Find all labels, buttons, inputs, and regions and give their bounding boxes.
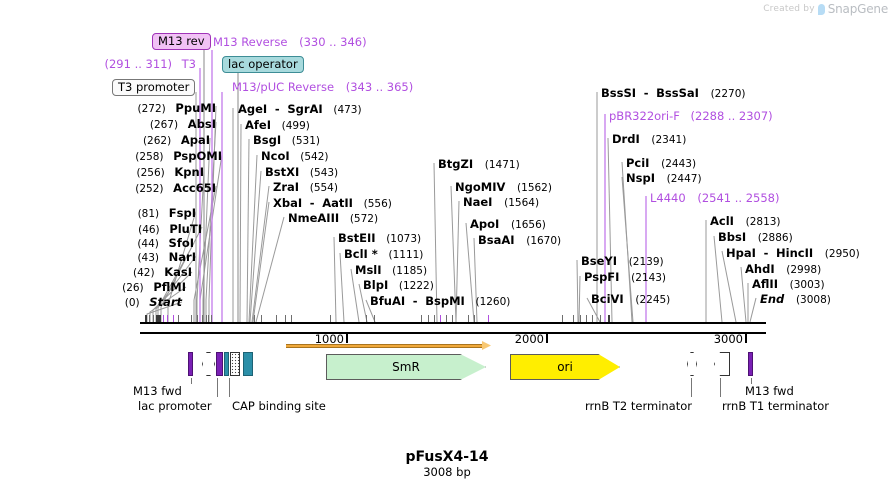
primer-arrow-head: [482, 341, 491, 350]
enzyme-pos-agei-sgrai: (473): [333, 104, 361, 116]
feature-lac-operator-site[interactable]: [224, 352, 229, 376]
enzyme-label-kpni[interactable]: (256) KpnI: [137, 166, 205, 179]
caption-rule-rrnb-t2: [691, 378, 692, 397]
primer-name-m13-puc-reverse: M13/pUC Reverse: [232, 80, 334, 94]
enzyme-pos-pluti: (46): [138, 224, 160, 236]
enzyme-name-bfuai: BfuAI: [370, 294, 405, 308]
enzyme-pos-pspfi: (2143): [631, 272, 666, 284]
enzyme-label-btgzi[interactable]: BtgZI (1471): [438, 158, 520, 171]
ruler-tick-2000: 2000: [515, 332, 546, 346]
enzyme-label-afei[interactable]: AfeI (499): [245, 119, 310, 132]
enzyme-name-bbsi: BbsI: [718, 230, 746, 244]
enzyme-name-ahdi: AhdI: [745, 262, 775, 276]
enzyme-label-pspfi[interactable]: PspFI (2143): [584, 271, 666, 284]
gene-arrow-smr[interactable]: SmR: [326, 354, 486, 380]
enzyme-name-xbai: XbaI: [273, 196, 302, 210]
enzyme-name-bcli: BclI *: [344, 247, 378, 261]
enzyme-pos-pflmi: (26): [122, 282, 144, 294]
enzyme-label-bbsi[interactable]: BbsI (2886): [718, 231, 793, 244]
enzyme-name-apoi: ApoI: [470, 217, 499, 231]
primer-name-m13-reverse: M13 Reverse: [213, 35, 287, 49]
enzyme-label-pluti[interactable]: (46) PluTI: [138, 223, 202, 236]
caption-m13-fwd-right[interactable]: M13 fwd: [745, 384, 794, 398]
primer-label-pbr322ori-f[interactable]: pBR322ori-F (2288 .. 2307): [609, 110, 773, 122]
enzyme-name-sfoi: SfoI: [169, 236, 194, 250]
snapgene-watermark: Created by SnapGene: [763, 2, 888, 16]
enzyme-name-start: Start: [149, 295, 182, 309]
enzyme-label-pspomi[interactable]: (258) PspOMI: [135, 150, 222, 163]
enzyme-label-drdi[interactable]: DrdI (2341): [612, 133, 686, 146]
enzyme-name-bstxi: BstXI: [265, 165, 299, 179]
plasmid-map-canvas: Created by SnapGene: [0, 0, 894, 487]
enzyme-name-bcivi: BciVI: [591, 292, 624, 306]
enzyme-name-btgzi: BtgZI: [438, 157, 473, 171]
enzyme-label-hpai-hincii[interactable]: HpaI - HincII (2950): [726, 247, 860, 260]
enzyme-label-ahdi[interactable]: AhdI (2998): [745, 263, 821, 276]
primer-name-pbr322ori-f: pBR322ori-F: [609, 109, 680, 123]
enzyme-pos-pcii: (2443): [661, 158, 696, 170]
ruler-tick-2000-mark: [546, 334, 548, 343]
enzyme-name-pspomi: PspOMI: [173, 149, 222, 163]
primer-range-pbr322ori-f: (2288 .. 2307): [691, 109, 773, 123]
enzyme-name-ngomiv: NgoMIV: [455, 180, 505, 194]
enzyme-pos-nari: (43): [137, 252, 159, 264]
ruler-tick-3000-mark: [745, 334, 747, 343]
enzyme-label-ppumi[interactable]: (272) PpuMI: [138, 102, 216, 115]
enzyme-name-aflii: AflII: [752, 277, 778, 291]
primer-range-l4440: (2541 .. 2558): [697, 191, 779, 205]
enzyme-name-kasi: KasI: [164, 265, 192, 279]
enzyme-label-sfoi[interactable]: (44) SfoI: [137, 237, 194, 250]
enzyme-label-absi[interactable]: (267) AbsI: [150, 118, 216, 131]
enzyme-label-apai[interactable]: (262) ApaI: [143, 134, 210, 147]
enzyme-pos-apoi: (1656): [511, 219, 546, 231]
enzyme-pos-ahdi: (2998): [786, 264, 821, 276]
enzyme-pos-fspi: (81): [138, 208, 160, 220]
enzyme-label-acc65i[interactable]: (252) Acc65I: [135, 182, 216, 195]
enzyme-label-aflii[interactable]: AflII (3003): [752, 278, 825, 291]
enzyme-label-bfuai-bspmi[interactable]: BfuAI - BspMI (1260): [370, 295, 510, 308]
enzyme-label-bcivi[interactable]: BciVI (2245): [591, 293, 670, 306]
enzyme-label-agei-sgrai[interactable]: AgeI - SgrAI (473): [238, 103, 362, 116]
enzyme-label-start[interactable]: (0) Start: [125, 296, 182, 309]
enzyme-pos-naei: (1564): [504, 197, 539, 209]
enzyme-pos-ncoi: (542): [300, 151, 328, 163]
enzyme-name-hpai: HpaI: [726, 246, 756, 260]
ruler-tick-3000: 3000: [714, 332, 745, 346]
enzyme-name-sgrai: SgrAI: [287, 102, 322, 116]
enzyme-name-bseyi: BseYI: [581, 254, 617, 268]
enzyme-name-afei: AfeI: [245, 118, 271, 132]
enzyme-pos-nmeaiii: (572): [350, 213, 378, 225]
feature-rrnb-t2-terminator[interactable]: [687, 352, 697, 376]
enzyme-name-hincii: HincII: [776, 246, 813, 260]
enzyme-pos-nspi: (2447): [667, 173, 702, 185]
enzyme-pos-apai: (262): [143, 135, 171, 147]
caption-rule-cap-binding-site: [229, 378, 230, 397]
enzyme-pos-hpai-hincii: (2950): [825, 248, 860, 260]
gene-label-smr: SmR: [392, 360, 420, 374]
enzyme-name-bsaai: BsaAI: [478, 233, 515, 247]
enzyme-label-ngomiv[interactable]: NgoMIV (1562): [455, 181, 552, 194]
enzyme-name-nspi: NspI: [626, 171, 655, 185]
enzyme-name-pflmi: PflMI: [153, 280, 186, 294]
enzyme-label-zrai[interactable]: ZraI (554): [273, 181, 338, 194]
snapgene-leaf-icon: [818, 4, 825, 15]
primer-name-l4440: L4440: [650, 191, 686, 205]
plasmid-title: pFusX4-14: [0, 449, 894, 465]
enzyme-pos-kasi: (42): [133, 267, 155, 279]
feature-lac-promoter[interactable]: [202, 352, 215, 376]
primer-range-m13-puc-reverse: (343 .. 365): [346, 80, 414, 94]
enzyme-label-fspi[interactable]: (81) FspI: [138, 207, 196, 220]
enzyme-name-kpni: KpnI: [174, 165, 204, 179]
enzyme-name-agei: AgeI: [238, 102, 267, 116]
enzyme-label-end[interactable]: End (3008): [760, 293, 831, 306]
feature-rrnb-t1-terminator[interactable]: [714, 352, 730, 376]
primer-label-l4440[interactable]: L4440 (2541 .. 2558): [650, 192, 779, 204]
enzyme-label-bsaai[interactable]: BsaAI (1670): [478, 234, 561, 247]
enzyme-pos-drdi: (2341): [651, 134, 686, 146]
caption-lac-promoter[interactable]: lac promoter: [138, 399, 212, 413]
caption-rrnb-t2-terminator[interactable]: rrnB T2 terminator: [585, 399, 692, 413]
enzyme-pos-btgzi: (1471): [485, 159, 520, 171]
enzyme-pos-start: (0): [125, 297, 140, 309]
enzyme-label-nari[interactable]: (43) NarI: [137, 251, 196, 264]
watermark-brand: SnapGene: [828, 2, 888, 16]
enzyme-name-pspfi: PspFI: [584, 270, 619, 284]
enzyme-name-bsteii: BstEII: [338, 231, 376, 245]
feature-cap-binding-site[interactable]: [230, 352, 240, 376]
enzyme-pos-acli: (2813): [746, 216, 781, 228]
enzyme-label-nspi[interactable]: NspI (2447): [626, 172, 702, 185]
enzyme-pos-afei: (499): [282, 120, 310, 132]
enzyme-pos-bbsi: (2886): [758, 232, 793, 244]
primer-label-m13-reverse[interactable]: M13 Reverse (330 .. 346): [213, 36, 367, 48]
enzyme-label-blpi[interactable]: BlpI (1222): [363, 279, 434, 292]
primer-arrow-shaft: [286, 344, 483, 348]
enzyme-pos-bcli: (1111): [388, 249, 423, 261]
caption-rule-m13-fwd-left: [191, 378, 192, 384]
enzyme-name-aatii: AatII: [322, 196, 353, 210]
feature-teal-right[interactable]: [243, 352, 253, 376]
enzyme-pos-ppumi: (272): [138, 103, 166, 115]
enzyme-name-drdi: DrdI: [612, 132, 640, 146]
enzyme-name-acli: AclI: [710, 214, 734, 228]
enzyme-label-naei[interactable]: NaeI (1564): [463, 196, 539, 209]
plasmid-length: 3008 bp: [0, 465, 894, 479]
enzyme-label-bseyi[interactable]: BseYI (2139): [581, 255, 664, 268]
enzyme-name-ppumi: PpuMI: [175, 101, 216, 115]
enzyme-pos-bcivi: (2245): [635, 294, 670, 306]
badge-t3-promoter[interactable]: T3 promoter: [112, 79, 195, 96]
feature-m13-rev-site[interactable]: [216, 352, 223, 376]
enzyme-name-zrai: ZraI: [273, 180, 299, 194]
enzyme-name-bsssai: BssSaI: [656, 86, 699, 100]
primer-arrow-orange[interactable]: [286, 341, 491, 350]
enzyme-label-pcii[interactable]: PciI (2443): [626, 157, 696, 170]
enzyme-name-nmeaiii: NmeAIII: [288, 211, 339, 225]
caption-m13-fwd-left[interactable]: M13 fwd: [133, 384, 182, 398]
gene-label-ori: ori: [557, 360, 573, 374]
enzyme-pos-aflii: (3003): [790, 279, 825, 291]
enzyme-label-bsgi[interactable]: BsgI (531): [253, 134, 320, 147]
enzyme-name-bsssi: BssSI: [601, 86, 636, 100]
enzyme-name-bsgi: BsgI: [253, 133, 281, 147]
feature-m13-fwd-left[interactable]: [188, 352, 193, 376]
enzyme-name-bspmi: BspMI: [425, 294, 465, 308]
primer-range-m13-reverse: (330 .. 346): [299, 35, 367, 49]
enzyme-label-bstxi[interactable]: BstXI (543): [265, 166, 338, 179]
enzyme-label-kasi[interactable]: (42) KasI: [133, 266, 192, 279]
enzyme-pos-pspomi: (258): [135, 151, 163, 163]
caption-cap-binding-site[interactable]: CAP binding site: [232, 399, 326, 413]
primer-label-t3[interactable]: (291 .. 311) T3: [105, 58, 197, 70]
enzyme-name-ncoi: NcoI: [261, 149, 290, 163]
enzyme-pos-bseyi: (2139): [629, 256, 664, 268]
caption-rule-lac-promoter: [217, 378, 218, 397]
enzyme-label-pflmi[interactable]: (26) PflMI: [122, 281, 186, 294]
watermark-prefix: Created by: [763, 4, 815, 14]
enzyme-pos-bsssi-bsssai: (2270): [711, 88, 746, 100]
plasmid-backbone[interactable]: [140, 322, 766, 334]
enzyme-name-nari: NarI: [169, 250, 196, 264]
enzyme-name-naei: NaeI: [463, 195, 492, 209]
enzyme-pos-acc65i: (252): [135, 183, 163, 195]
enzyme-name-acc65i: Acc65I: [173, 181, 216, 195]
enzyme-pos-ngomiv: (1562): [517, 182, 552, 194]
enzyme-label-msli[interactable]: MslI (1185): [355, 264, 427, 277]
enzyme-label-bsssi-bsssai[interactable]: BssSI - BssSaI (2270): [601, 87, 745, 100]
caption-rrnb-t1-terminator[interactable]: rrnB T1 terminator: [722, 399, 829, 413]
enzyme-label-ncoi[interactable]: NcoI (542): [261, 150, 329, 163]
enzyme-name-end: End: [760, 292, 784, 306]
enzyme-label-nmeaiii[interactable]: NmeAIII (572): [288, 212, 378, 225]
enzyme-pos-end: (3008): [796, 294, 831, 306]
enzyme-pos-bfuai-bspmi: (1260): [475, 296, 510, 308]
caption-rule-rrnb-t1: [720, 378, 721, 397]
enzyme-pos-msli: (1185): [392, 265, 427, 277]
enzyme-name-absi: AbsI: [188, 117, 216, 131]
enzyme-name-pluti: PluTI: [169, 222, 202, 236]
feature-m13-fwd-right[interactable]: [748, 352, 753, 376]
badge-lac-operator[interactable]: lac operator: [222, 56, 304, 73]
enzyme-pos-xbai-aatii: (556): [364, 198, 392, 210]
enzyme-pos-bsteii: (1073): [386, 233, 421, 245]
primer-name-t3: T3: [182, 57, 196, 71]
enzyme-name-blpi: BlpI: [363, 278, 388, 292]
enzyme-pos-sfoi: (44): [137, 238, 159, 250]
badge-m13-rev[interactable]: M13 rev: [152, 33, 211, 50]
enzyme-pos-kpni: (256): [137, 167, 165, 179]
enzyme-label-acli[interactable]: AclI (2813): [710, 215, 781, 228]
enzyme-pos-bstxi: (543): [310, 167, 338, 179]
enzyme-name-msli: MslI: [355, 263, 382, 277]
enzyme-label-bsteii[interactable]: BstEII (1073): [338, 232, 421, 245]
enzyme-name-pcii: PciI: [626, 156, 649, 170]
primer-label-m13-puc-reverse[interactable]: M13/pUC Reverse (343 .. 365): [232, 81, 413, 93]
enzyme-name-apai: ApaI: [181, 133, 210, 147]
enzyme-pos-blpi: (1222): [399, 280, 434, 292]
enzyme-label-xbai-aatii[interactable]: XbaI - AatII (556): [273, 197, 392, 210]
enzyme-label-bcli[interactable]: BclI * (1111): [344, 248, 423, 261]
enzyme-name-fspi: FspI: [169, 206, 196, 220]
enzyme-pos-bsaai: (1670): [526, 235, 561, 247]
primer-range-t3: (291 .. 311): [105, 57, 173, 71]
enzyme-pos-bsgi: (531): [292, 135, 320, 147]
enzyme-label-apoi[interactable]: ApoI (1656): [470, 218, 546, 231]
enzyme-pos-zrai: (554): [310, 182, 338, 194]
gene-arrow-ori[interactable]: ori: [510, 354, 620, 380]
enzyme-pos-absi: (267): [150, 119, 178, 131]
